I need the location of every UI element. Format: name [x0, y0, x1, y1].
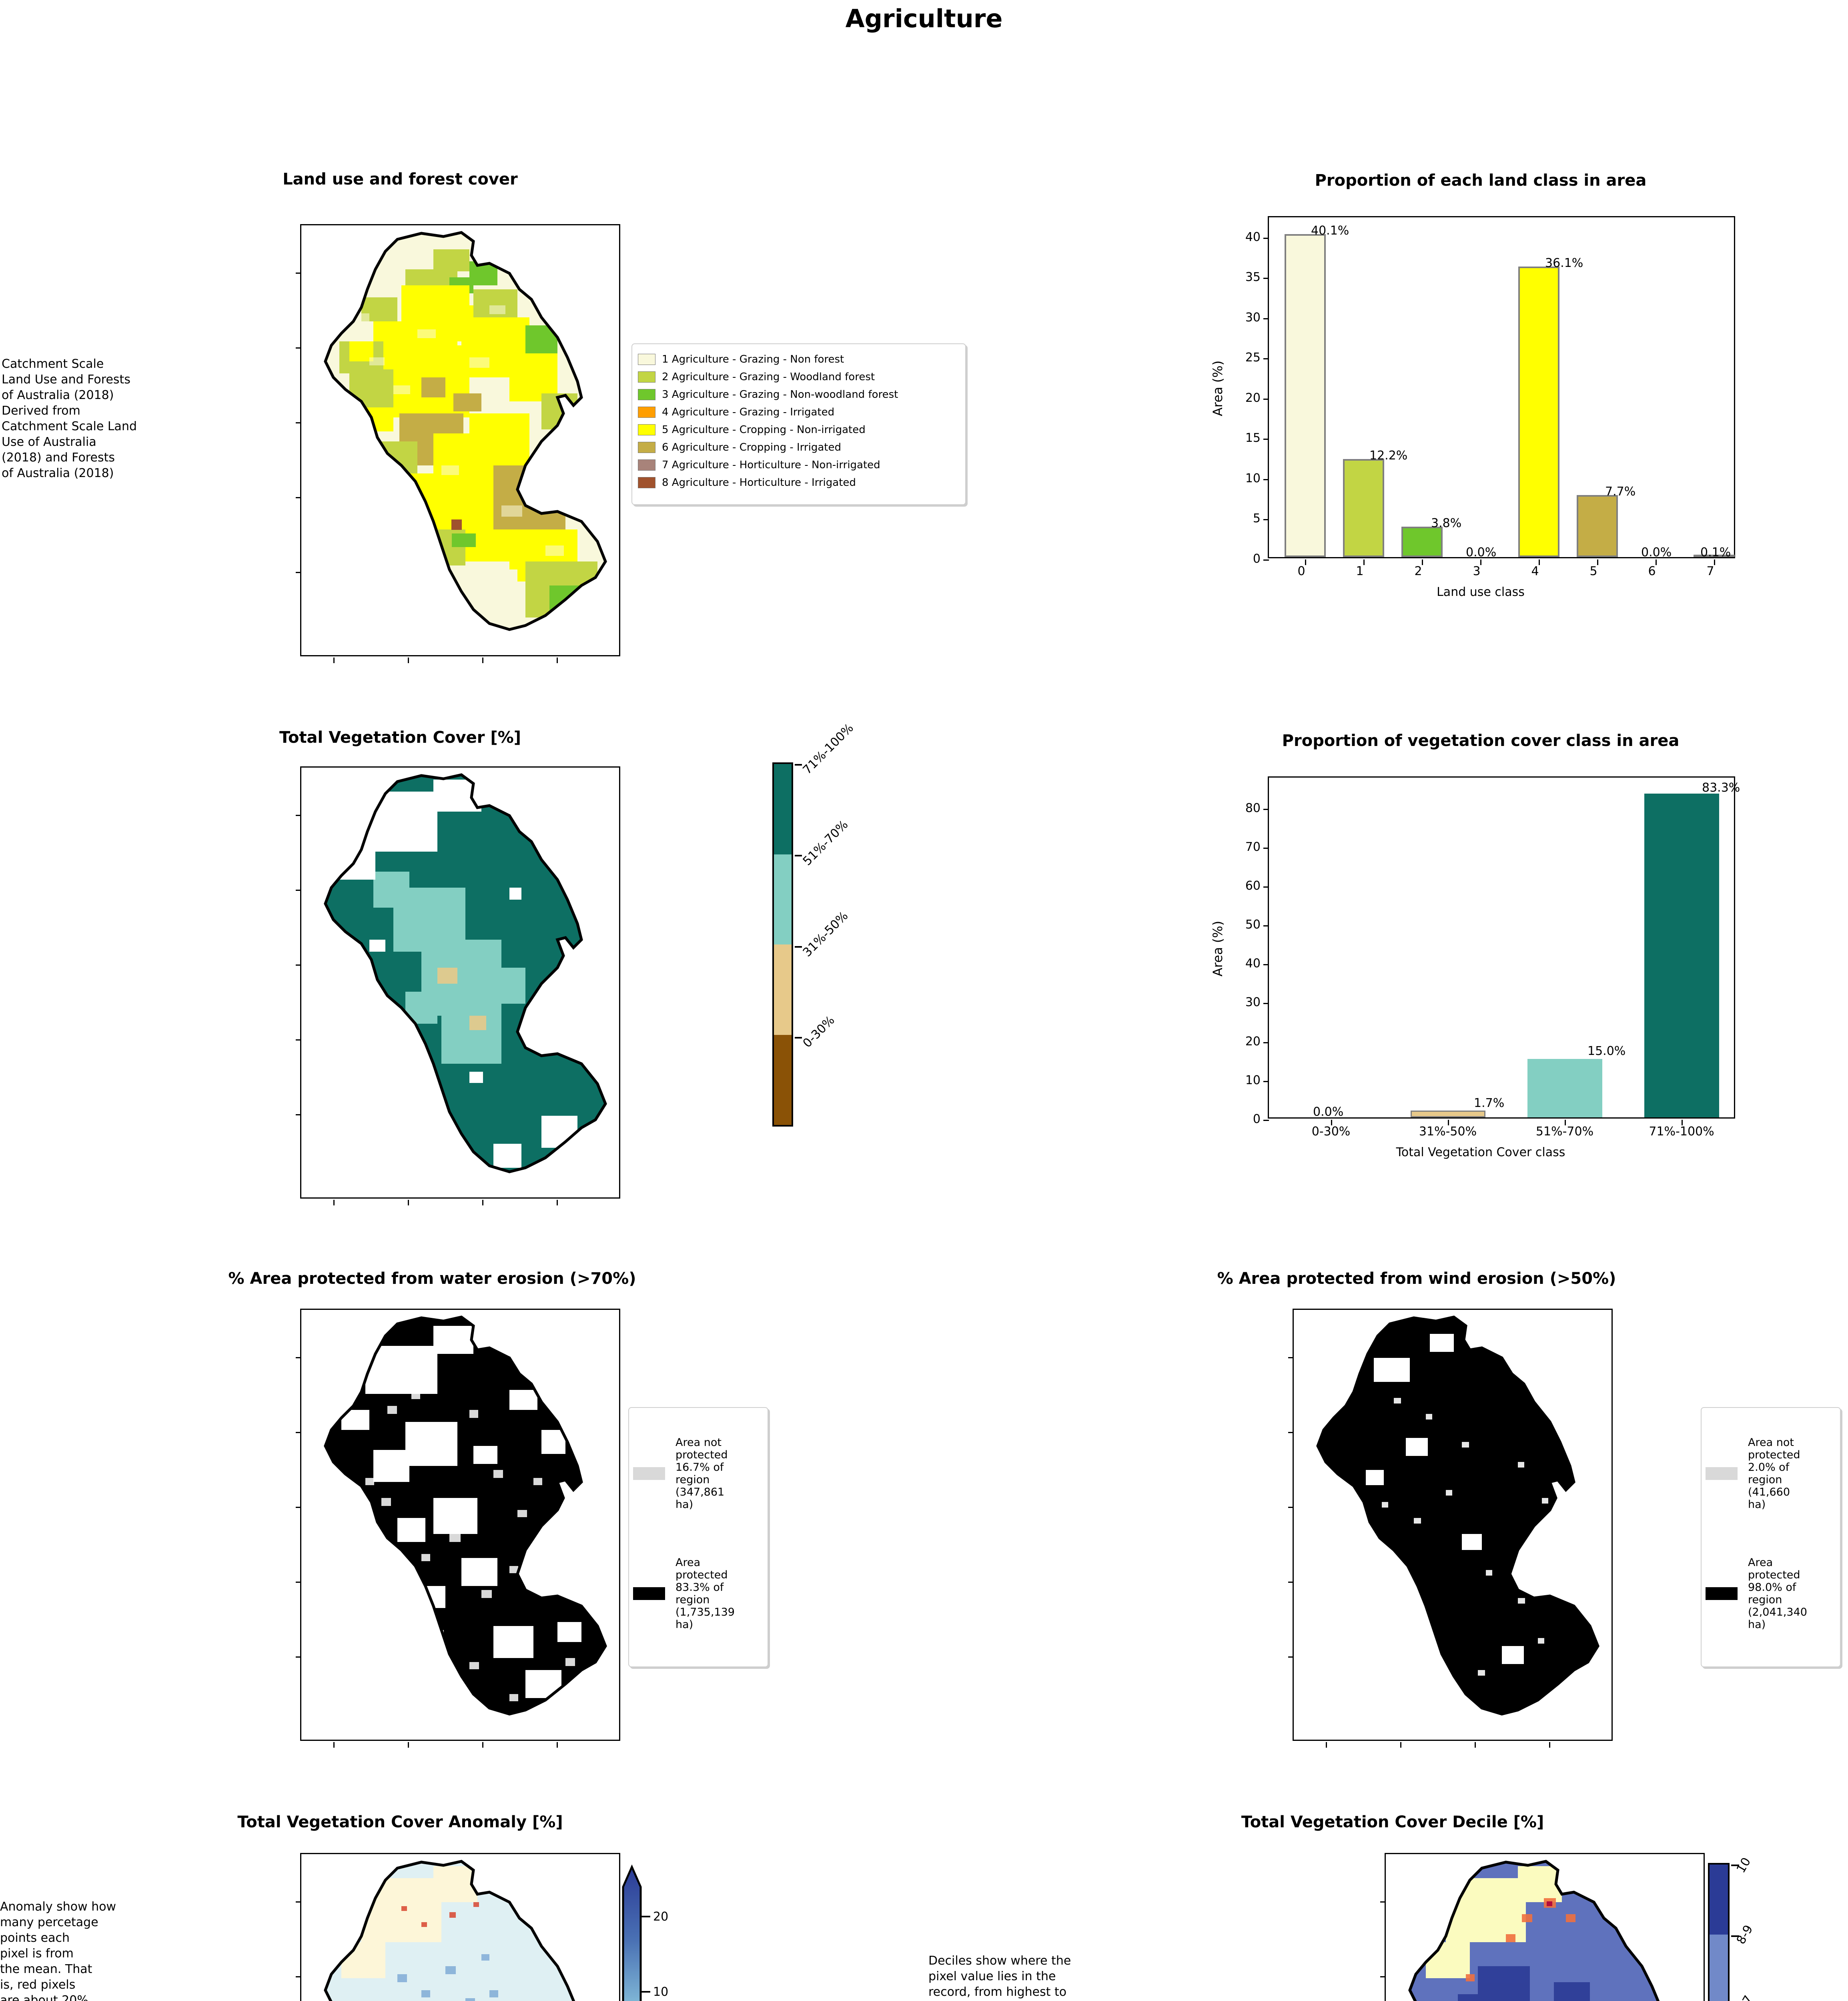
- veg-xtick-1: 31%-50%: [1400, 1125, 1496, 1139]
- ytick-0: 0: [1229, 552, 1261, 566]
- cbar-seg-10: [1710, 1865, 1728, 1935]
- legend-label-5: 5 Agriculture - Cropping - Non-irrigated: [662, 424, 866, 436]
- legend-label-protected: Area protected 98.0% of region (2,041,34…: [1748, 1556, 1807, 1631]
- xtick-3: 3: [1461, 564, 1493, 578]
- veg-xtick-3: 71%-100%: [1634, 1125, 1730, 1139]
- anomaly-colorbar-svg: [618, 1859, 666, 2001]
- anomaly-tick-20: 20: [653, 1910, 668, 1924]
- legend-label-protected: Area protected 83.3% of region (1,735,13…: [675, 1556, 735, 1631]
- veg-ytick-10: 10: [1229, 1073, 1261, 1087]
- wind-erosion-panel-title: % Area protected from wind erosion (>50%…: [1056, 1269, 1777, 1288]
- bar-2[interactable]: [1401, 527, 1443, 557]
- legend-label-1: 1 Agriculture - Grazing - Non forest: [662, 353, 844, 365]
- land-class-plot-area: 40.1% 12.2% 3.8% 0.0% 36.1% 7.7% 0.0% 0.…: [1268, 216, 1735, 558]
- cbar-label-31-50: 31%-50%: [800, 909, 851, 960]
- legend-swatch-6: [638, 442, 655, 453]
- land-use-panel-title: Land use and forest cover: [120, 170, 680, 188]
- ytick-15: 15: [1229, 431, 1261, 445]
- veg-class-x-axis-title: Total Vegetation Cover class: [1185, 1145, 1777, 1159]
- veg-ytick-70: 70: [1229, 840, 1261, 854]
- bar-veg-value-1: 1.7%: [1474, 1096, 1504, 1110]
- decile-label-10: 10: [1734, 1855, 1754, 1876]
- wind-erosion-legend[interactable]: Area not protected 2.0% of region (41,66…: [1701, 1407, 1841, 1667]
- legend-swatch-8: [638, 477, 655, 488]
- land-class-y-axis-title: Area (%): [1210, 361, 1225, 416]
- anomaly-map-canvas: [301, 1854, 619, 2001]
- veg-ytick-20: 20: [1229, 1035, 1261, 1049]
- veg-cover-catchment-shape: [301, 768, 619, 1197]
- bar-value-1: 12.2%: [1369, 449, 1407, 463]
- legend-item[interactable]: 6 Agriculture - Cropping - Irrigated: [638, 439, 960, 456]
- cbar-seg-51-70: [774, 854, 792, 945]
- ytick-30: 30: [1229, 311, 1261, 325]
- veg-class-y-axis-title: Area (%): [1210, 921, 1225, 976]
- legend-item[interactable]: Area not protected 2.0% of region (41,66…: [1706, 1414, 1836, 1534]
- legend-label-6: 6 Agriculture - Cropping - Irrigated: [662, 441, 841, 453]
- veg-xtick-2: 51%-70%: [1517, 1125, 1613, 1139]
- water-erosion-catchment-shape: [301, 1310, 619, 1740]
- decile-map[interactable]: [1385, 1853, 1705, 2001]
- legend-label-7: 7 Agriculture - Horticulture - Non-irrig…: [662, 459, 880, 471]
- decile-explanation-note: Deciles show where the pixel value lies …: [928, 1953, 1128, 2001]
- legend-swatch-4: [638, 407, 655, 418]
- legend-label-not-protected: Area not protected 16.7% of region (347,…: [675, 1436, 728, 1511]
- cbar-seg-31-50: [774, 944, 792, 1035]
- bar-1[interactable]: [1343, 459, 1384, 557]
- legend-label-not-protected: Area not protected 2.0% of region (41,66…: [1748, 1436, 1800, 1511]
- ytick-25: 25: [1229, 351, 1261, 365]
- legend-swatch-1: [638, 354, 655, 365]
- veg-ytick-30: 30: [1229, 995, 1261, 1009]
- wind-erosion-map[interactable]: [1293, 1309, 1613, 1741]
- bar-4[interactable]: [1518, 267, 1559, 557]
- anomaly-tick-10: 10: [653, 1985, 668, 1999]
- land-use-legend[interactable]: 1 Agriculture - Grazing - Non forest 2 A…: [631, 343, 966, 505]
- legend-swatch-2: [638, 371, 655, 383]
- bar-veg-value-3: 83.3%: [1702, 781, 1740, 795]
- ytick-5: 5: [1229, 511, 1261, 525]
- legend-label-8: 8 Agriculture - Horticulture - Irrigated: [662, 477, 856, 489]
- legend-swatch-3: [638, 389, 655, 400]
- legend-swatch-protected: [1706, 1587, 1738, 1600]
- xtick-0: 0: [1285, 564, 1317, 578]
- wind-erosion-catchment-shape: [1294, 1310, 1611, 1740]
- legend-item[interactable]: 8 Agriculture - Horticulture - Irrigated: [638, 474, 960, 491]
- legend-swatch-not-protected: [633, 1467, 665, 1480]
- legend-item[interactable]: 1 Agriculture - Grazing - Non forest: [638, 351, 960, 368]
- cbar-label-51-70: 51%-70%: [800, 818, 851, 868]
- veg-class-chart[interactable]: Proportion of vegetation cover class in …: [1185, 720, 1777, 1237]
- legend-swatch-7: [638, 459, 655, 471]
- veg-class-chart-title: Proportion of vegetation cover class in …: [1185, 732, 1777, 750]
- land-class-chart-title: Proportion of each land class in area: [1185, 171, 1777, 190]
- legend-item[interactable]: 7 Agriculture - Horticulture - Non-irrig…: [638, 456, 960, 474]
- xtick-6: 6: [1636, 564, 1668, 578]
- bar-veg-value-0: 0.0%: [1313, 1105, 1343, 1119]
- ytick-35: 35: [1229, 270, 1261, 284]
- bar-value-4: 36.1%: [1545, 256, 1583, 270]
- decile-colorbar[interactable]: [1708, 1863, 1730, 2001]
- page-title: Agriculture: [0, 4, 1848, 33]
- legend-swatch-not-protected: [1706, 1467, 1738, 1480]
- veg-cover-colorbar[interactable]: [772, 762, 793, 1127]
- bar-veg-2[interactable]: [1527, 1059, 1602, 1117]
- bar-value-7: 0.1%: [1700, 545, 1731, 559]
- cbar-seg-8-9: [1710, 1935, 1728, 2001]
- cbar-seg-0-30: [774, 1035, 792, 1125]
- ytick-40: 40: [1229, 230, 1261, 244]
- veg-ytick-0: 0: [1229, 1112, 1261, 1126]
- bar-value-6: 0.0%: [1641, 545, 1672, 559]
- anomaly-explanation-note: Anomaly show how many percetage points e…: [0, 1899, 172, 2001]
- bar-5[interactable]: [1577, 495, 1618, 557]
- xtick-4: 4: [1519, 564, 1551, 578]
- legend-swatch-5: [638, 424, 655, 435]
- ytick-10: 10: [1229, 471, 1261, 485]
- cbar-label-0-30: 0-30%: [800, 1013, 838, 1051]
- xtick-1: 1: [1344, 564, 1376, 578]
- bar-veg-3[interactable]: [1644, 794, 1719, 1117]
- veg-cover-map[interactable]: [300, 766, 620, 1199]
- cbar-seg-71-100: [774, 764, 792, 854]
- bar-value-5: 7.7%: [1605, 485, 1636, 499]
- wind-erosion-map-canvas: [1294, 1310, 1611, 1740]
- legend-item[interactable]: Area protected 83.3% of region (1,735,13…: [633, 1534, 764, 1654]
- xtick-7: 7: [1694, 564, 1726, 578]
- legend-label-2: 2 Agriculture - Grazing - Woodland fores…: [662, 371, 875, 383]
- water-erosion-panel-title: % Area protected from water erosion (>70…: [72, 1269, 792, 1288]
- veg-ytick-80: 80: [1229, 801, 1261, 815]
- land-use-source-note: Catchment Scale Land Use and Forests of …: [2, 356, 170, 481]
- legend-item[interactable]: 4 Agriculture - Grazing - Irrigated: [638, 403, 960, 421]
- legend-item[interactable]: Area protected 98.0% of region (2,041,34…: [1706, 1534, 1836, 1654]
- legend-label-4: 4 Agriculture - Grazing - Irrigated: [662, 406, 834, 418]
- bar-value-0: 40.1%: [1311, 224, 1349, 238]
- legend-item[interactable]: 3 Agriculture - Grazing - Non-woodland f…: [638, 386, 960, 403]
- legend-label-3: 3 Agriculture - Grazing - Non-woodland f…: [662, 389, 898, 401]
- anomaly-map[interactable]: [300, 1853, 620, 2001]
- veg-xtick-0: 0-30%: [1283, 1125, 1379, 1139]
- xtick-2: 2: [1402, 564, 1434, 578]
- veg-cover-map-canvas: [301, 768, 619, 1197]
- anomaly-catchment-shape: [301, 1854, 619, 2001]
- legend-item[interactable]: 2 Agriculture - Grazing - Woodland fores…: [638, 368, 960, 386]
- land-class-chart[interactable]: Proportion of each land class in area 40…: [1185, 160, 1777, 676]
- bar-veg-value-2: 15.0%: [1587, 1044, 1626, 1058]
- bar-veg-1[interactable]: [1411, 1111, 1485, 1117]
- water-erosion-map-canvas: [301, 1310, 619, 1740]
- veg-ytick-40: 40: [1229, 956, 1261, 970]
- anomaly-colorbar[interactable]: [618, 1859, 666, 2001]
- land-use-map-canvas: [301, 225, 619, 655]
- cbar-label-71-100: 71%-100%: [800, 721, 856, 777]
- decile-label-4-7: 4-7: [1734, 1993, 1756, 2001]
- veg-cover-panel-title: Total Vegetation Cover [%]: [120, 728, 680, 747]
- bar-0[interactable]: [1285, 234, 1326, 557]
- bar-value-3: 0.0%: [1466, 545, 1496, 559]
- land-use-catchment-shape: [301, 225, 619, 655]
- water-erosion-legend[interactable]: Area not protected 16.7% of region (347,…: [628, 1407, 768, 1667]
- legend-item[interactable]: 5 Agriculture - Cropping - Non-irrigated: [638, 421, 960, 439]
- land-class-x-axis-title: Land use class: [1185, 585, 1777, 599]
- bar-value-2: 3.8%: [1431, 516, 1461, 530]
- water-erosion-map[interactable]: [300, 1309, 620, 1741]
- decile-catchment-shape: [1386, 1854, 1704, 2001]
- legend-swatch-protected: [633, 1587, 665, 1600]
- xtick-5: 5: [1577, 564, 1609, 578]
- veg-ytick-50: 50: [1229, 918, 1261, 932]
- ytick-20: 20: [1229, 391, 1261, 405]
- legend-item[interactable]: Area not protected 16.7% of region (347,…: [633, 1414, 764, 1534]
- veg-ytick-60: 60: [1229, 879, 1261, 893]
- decile-panel-title: Total Vegetation Cover Decile [%]: [1112, 1813, 1673, 1831]
- decile-map-canvas: [1386, 1854, 1704, 2001]
- decile-label-8-9: 8-9: [1734, 1923, 1756, 1947]
- land-use-map[interactable]: [300, 224, 620, 656]
- anomaly-panel-title: Total Vegetation Cover Anomaly [%]: [120, 1813, 680, 1831]
- veg-class-plot-area: 0.0% 1.7% 15.0% 83.3%: [1268, 776, 1735, 1119]
